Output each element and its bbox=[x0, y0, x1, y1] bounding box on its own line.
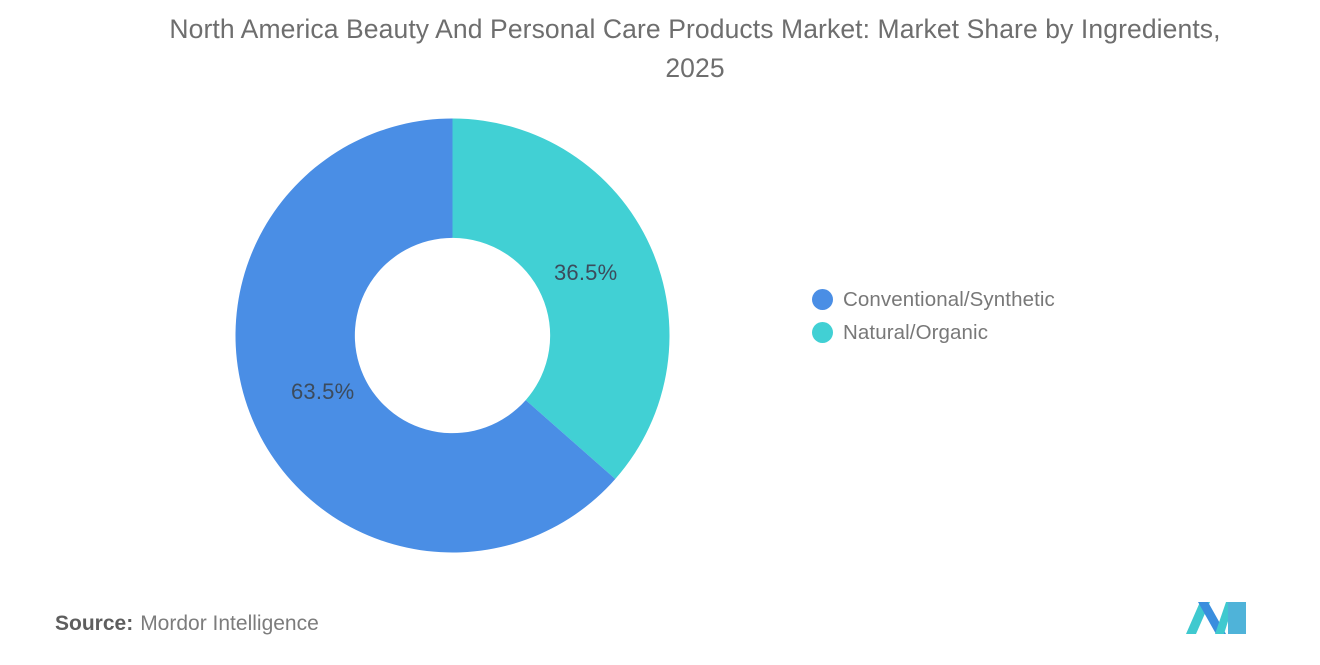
legend-item-label: Conventional/Synthetic bbox=[843, 288, 1055, 312]
source-value: Mordor Intelligence bbox=[140, 612, 319, 635]
chart-plot-area: 63.5% 36.5% Conventional/Synthetic Natur… bbox=[0, 0, 1320, 600]
slice-value-label-conventional-synthetic: 63.5% bbox=[291, 379, 354, 405]
donut-slices bbox=[235, 119, 669, 553]
legend-swatch-icon bbox=[812, 322, 833, 343]
source-label: Source: bbox=[55, 612, 133, 635]
source-attribution: Source:Mordor Intelligence bbox=[55, 612, 319, 636]
donut-chart bbox=[225, 108, 680, 563]
donut-slice-natural-organic[interactable] bbox=[453, 119, 670, 480]
legend-item-label: Natural/Organic bbox=[843, 321, 988, 345]
legend-item-natural-organic[interactable]: Natural/Organic bbox=[812, 316, 1055, 349]
legend-item-conventional-synthetic[interactable]: Conventional/Synthetic bbox=[812, 283, 1055, 316]
chart-legend: Conventional/Synthetic Natural/Organic bbox=[812, 283, 1055, 349]
mordor-intelligence-logo-icon bbox=[1184, 598, 1252, 638]
legend-swatch-icon bbox=[812, 289, 833, 310]
slice-value-label-natural-organic: 36.5% bbox=[554, 260, 617, 286]
